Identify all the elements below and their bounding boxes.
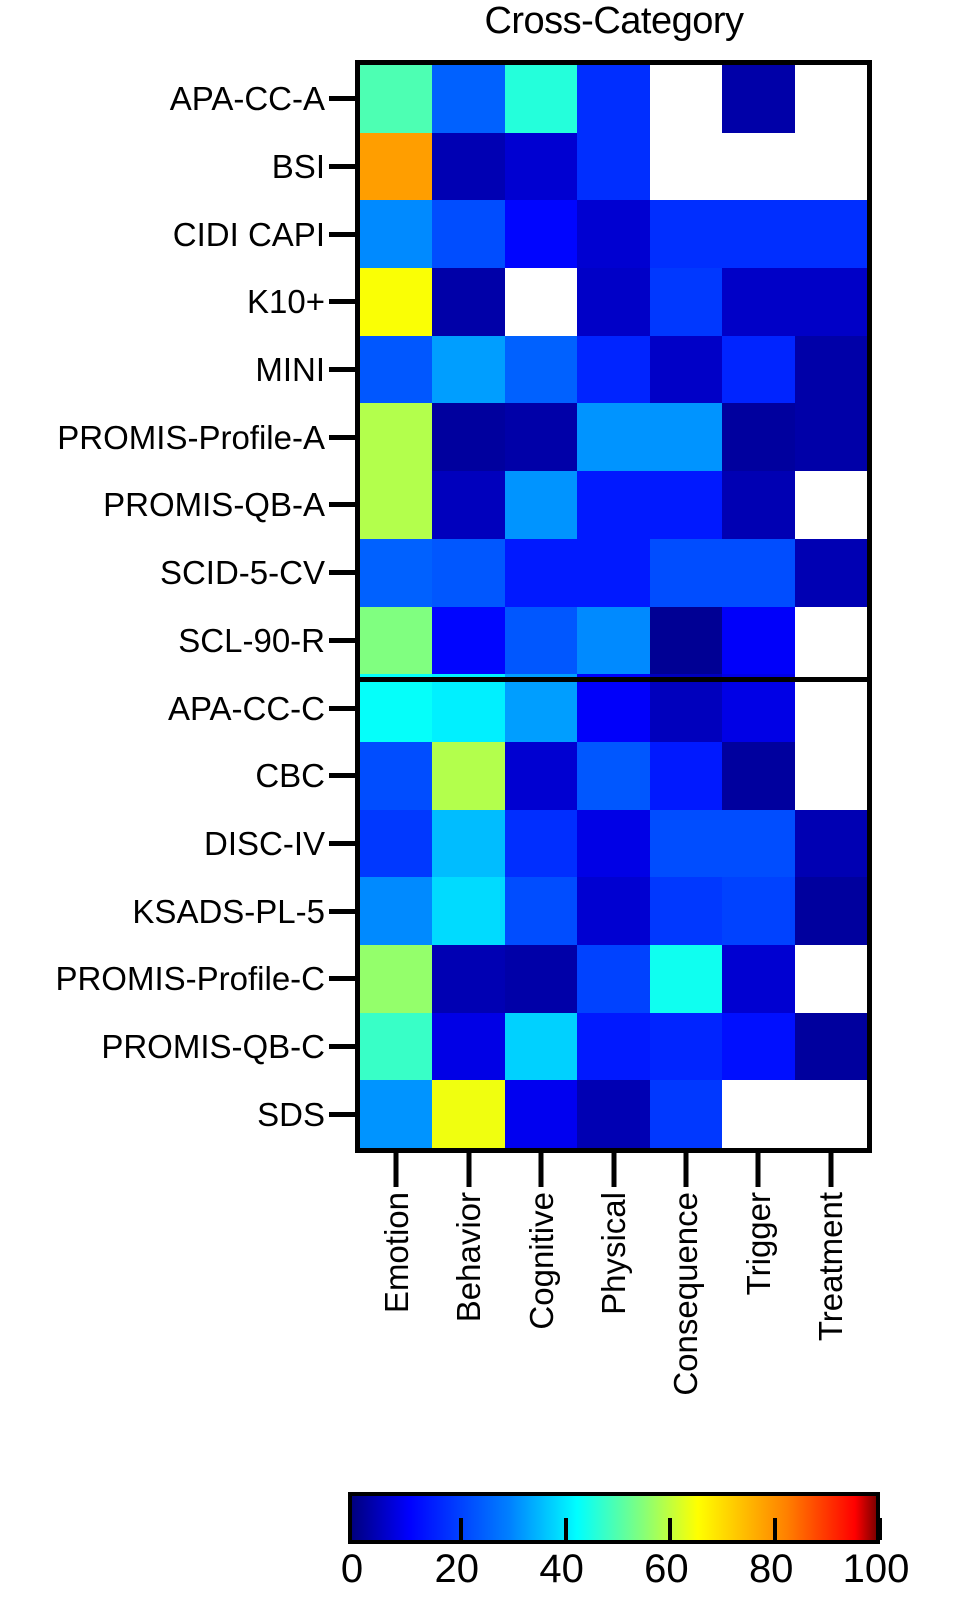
y-tick-mark [329, 706, 355, 711]
heatmap-cell [360, 133, 432, 201]
y-axis-tick-label: SDS [257, 1080, 355, 1148]
column-label-text: Trigger [742, 1192, 775, 1295]
heatmap-cell [722, 268, 794, 336]
y-axis-tick-label: CIDI CAPI [173, 200, 355, 268]
colorbar-tick-mark [773, 1518, 777, 1540]
heatmap-cell [360, 674, 432, 742]
heatmap-cell [432, 877, 504, 945]
y-tick-mark [329, 773, 355, 778]
x-axis-tick-label: Physical [577, 1192, 649, 1407]
heatmap-cell [432, 945, 504, 1013]
heatmap-cell [795, 607, 867, 675]
heatmap-cell [432, 539, 504, 607]
heatmap-cell [360, 742, 432, 810]
heatmap-cell [432, 200, 504, 268]
colorbar-gradient [352, 1496, 876, 1540]
heatmap-cell [577, 674, 649, 742]
heatmap-cell [432, 1080, 504, 1148]
colorbar-tick-text: 100 [843, 1548, 910, 1590]
heatmap-cell [577, 1080, 649, 1148]
row-label-text: APA-CC-C [168, 692, 327, 725]
heatmap-cell [795, 1080, 867, 1148]
heatmap-cell [505, 403, 577, 471]
heatmap-plot-area [355, 60, 872, 1153]
y-axis-tick-label: PROMIS-QB-C [101, 1012, 355, 1080]
heatmap-cell [505, 1080, 577, 1148]
x-axis-tick-label: Treatment [795, 1192, 867, 1407]
colorbar-tick-mark [564, 1518, 568, 1540]
heatmap-cell [360, 403, 432, 471]
heatmap-cell [505, 810, 577, 878]
column-label-text: Treatment [814, 1192, 847, 1341]
heatmap-cell [795, 133, 867, 201]
heatmap-cell [650, 539, 722, 607]
heatmap-cell [360, 1013, 432, 1081]
heatmap-cell [432, 268, 504, 336]
x-axis-tick-label: Emotion [360, 1192, 432, 1407]
heatmap-cell [505, 674, 577, 742]
column-label-text: Cognitive [525, 1192, 558, 1330]
heatmap-cell [722, 336, 794, 404]
row-label-text: CBC [255, 759, 327, 792]
heatmap-cell [650, 133, 722, 201]
y-axis-tick-label: MINI [255, 336, 355, 404]
y-axis-tick-label: APA-CC-C [168, 674, 355, 742]
heatmap-cell [722, 877, 794, 945]
y-tick-mark [329, 232, 355, 237]
heatmap-cell [650, 945, 722, 1013]
heatmap-cell [505, 945, 577, 1013]
column-label-text: Emotion [380, 1192, 413, 1313]
heatmap-cell [795, 742, 867, 810]
x-tick-mark [539, 1153, 544, 1187]
colorbar-tick-text: 20 [435, 1548, 480, 1590]
x-axis-tick-label: Cognitive [505, 1192, 577, 1407]
heatmap-cell [432, 403, 504, 471]
heatmap-grid [360, 65, 867, 1148]
x-axis-tick-label: Consequence [650, 1192, 722, 1407]
heatmap-cell [432, 471, 504, 539]
heatmap-cell [505, 877, 577, 945]
y-tick-mark [329, 164, 355, 169]
heatmap-cell [650, 810, 722, 878]
heatmap-cell [577, 471, 649, 539]
heatmap-cell [650, 1013, 722, 1081]
x-tick-mark [611, 1153, 616, 1187]
heatmap-cell [360, 336, 432, 404]
heatmap-cell [650, 877, 722, 945]
heatmap-cell [505, 471, 577, 539]
heatmap-cell [577, 336, 649, 404]
heatmap-cell [505, 268, 577, 336]
x-axis-labels: EmotionBehaviorCognitivePhysicalConseque… [355, 1192, 872, 1407]
heatmap-cell [360, 1080, 432, 1148]
y-axis-tick-label: PROMIS-QB-A [103, 471, 355, 539]
heatmap-cell [650, 403, 722, 471]
heatmap-cell [650, 1080, 722, 1148]
heatmap-cell [432, 1013, 504, 1081]
heatmap-cell [722, 133, 794, 201]
y-tick-mark [329, 299, 355, 304]
heatmap-cell [795, 336, 867, 404]
heatmap-cell [432, 607, 504, 675]
column-label-text: Consequence [669, 1192, 702, 1396]
heatmap-cell [432, 742, 504, 810]
row-label-text: PROMIS-Profile-C [55, 962, 327, 995]
y-axis-tick-label: SCL-90-R [178, 606, 355, 674]
row-label-text: DISC-IV [204, 827, 327, 860]
heatmap-cell [505, 539, 577, 607]
column-label-text: Physical [597, 1192, 630, 1315]
x-axis-tick-label: Trigger [722, 1192, 794, 1407]
colorbar-tick-mark [668, 1518, 672, 1540]
x-tick-mark [828, 1153, 833, 1187]
x-tick-mark [466, 1153, 471, 1187]
heatmap-cell [360, 471, 432, 539]
heatmap-cell [577, 607, 649, 675]
colorbar-tick-text: 60 [644, 1548, 689, 1590]
heatmap-cell [577, 742, 649, 810]
colorbar-tick-text: 0 [341, 1548, 363, 1590]
y-tick-mark [329, 96, 355, 101]
x-tick-mark [394, 1153, 399, 1187]
heatmap-cell [577, 65, 649, 133]
heatmap-cell [795, 471, 867, 539]
page-title: Cross-Category [355, 0, 873, 44]
heatmap-cell [722, 539, 794, 607]
heatmap-cell [360, 65, 432, 133]
heatmap-cell [722, 674, 794, 742]
heatmap-cell [577, 1013, 649, 1081]
heatmap-cell [795, 945, 867, 1013]
heatmap-cell [577, 403, 649, 471]
heatmap-cell [795, 810, 867, 878]
heatmap-cell [795, 877, 867, 945]
heatmap-cell [505, 607, 577, 675]
row-label-text: BSI [272, 150, 327, 183]
y-tick-mark [329, 909, 355, 914]
heatmap-cell [795, 65, 867, 133]
y-tick-mark [329, 1044, 355, 1049]
heatmap-cell [505, 65, 577, 133]
heatmap-cell [650, 742, 722, 810]
x-tick-mark [683, 1153, 688, 1187]
row-label-text: PROMIS-QB-A [103, 488, 327, 521]
heatmap-cell [577, 877, 649, 945]
heatmap-cell [650, 607, 722, 675]
y-tick-mark [329, 570, 355, 575]
colorbar [348, 1492, 880, 1544]
heatmap-cell [795, 674, 867, 742]
heatmap-cell [360, 877, 432, 945]
y-tick-mark [329, 367, 355, 372]
heatmap-cell [360, 810, 432, 878]
y-tick-mark [329, 435, 355, 440]
heatmap-cell [722, 1080, 794, 1148]
x-tick-mark [756, 1153, 761, 1187]
y-axis-tick-label: CBC [255, 742, 355, 810]
heatmap-cell [722, 403, 794, 471]
y-tick-mark [329, 502, 355, 507]
row-label-text: K10+ [247, 285, 327, 318]
heatmap-cell [650, 200, 722, 268]
heatmap-cell [795, 268, 867, 336]
row-label-text: PROMIS-QB-C [101, 1030, 327, 1063]
y-axis-labels: APA-CC-ABSICIDI CAPIK10+MINIPROMIS-Profi… [0, 60, 355, 1153]
y-tick-mark [329, 638, 355, 643]
heatmap-cell [432, 674, 504, 742]
row-label-text: CIDI CAPI [173, 218, 327, 251]
heatmap-cell [505, 200, 577, 268]
row-label-text: PROMIS-Profile-A [57, 421, 327, 454]
y-tick-mark [329, 1112, 355, 1117]
heatmap-cell [795, 1013, 867, 1081]
heatmap-cell [360, 539, 432, 607]
heatmap-cell [577, 200, 649, 268]
y-tick-mark [329, 841, 355, 846]
heatmap-cell [722, 742, 794, 810]
row-label-text: APA-CC-A [170, 82, 327, 115]
y-axis-tick-label: APA-CC-A [170, 65, 355, 133]
group-divider [360, 677, 867, 682]
heatmap-cell [360, 945, 432, 1013]
row-label-text: MINI [255, 353, 327, 386]
heatmap-cell [432, 65, 504, 133]
row-label-text: SCID-5-CV [160, 556, 327, 589]
heatmap-cell [432, 336, 504, 404]
heatmap-cell [432, 133, 504, 201]
heatmap-cell [722, 810, 794, 878]
colorbar-tick-labels: 020406080100 [348, 1548, 880, 1603]
heatmap-cell [795, 539, 867, 607]
heatmap-cell [650, 268, 722, 336]
colorbar-tick-text: 40 [539, 1548, 584, 1590]
heatmap-cell [795, 200, 867, 268]
heatmap-cell [722, 1013, 794, 1081]
heatmap-cell [722, 200, 794, 268]
heatmap-cell [577, 268, 649, 336]
y-axis-tick-label: SCID-5-CV [160, 539, 355, 607]
row-label-text: SDS [257, 1098, 327, 1131]
heatmap-cell [577, 945, 649, 1013]
heatmap-cell [722, 65, 794, 133]
y-axis-tick-label: PROMIS-Profile-C [55, 945, 355, 1013]
column-label-text: Behavior [452, 1192, 485, 1322]
heatmap-cell [650, 674, 722, 742]
y-axis-tick-label: KSADS-PL-5 [132, 877, 355, 945]
heatmap-cell [577, 539, 649, 607]
heatmap-cell [577, 133, 649, 201]
y-axis-tick-label: BSI [272, 133, 355, 201]
heatmap-cell [360, 268, 432, 336]
heatmap-cell [722, 945, 794, 1013]
colorbar-tick-mark [878, 1518, 882, 1540]
y-axis-tick-label: PROMIS-Profile-A [57, 403, 355, 471]
heatmap-cell [505, 742, 577, 810]
heatmap-cell [795, 403, 867, 471]
y-tick-mark [329, 976, 355, 981]
heatmap-cell [432, 810, 504, 878]
heatmap-cell [650, 471, 722, 539]
heatmap-cell [505, 133, 577, 201]
heatmap-cell [505, 1013, 577, 1081]
x-axis-tick-label: Behavior [432, 1192, 504, 1407]
heatmap-cell [722, 607, 794, 675]
y-axis-tick-label: DISC-IV [204, 809, 355, 877]
heatmap-cell [360, 607, 432, 675]
row-label-text: KSADS-PL-5 [132, 895, 327, 928]
colorbar-tick-text: 80 [749, 1548, 794, 1590]
heatmap-cell [577, 810, 649, 878]
y-axis-tick-label: K10+ [247, 268, 355, 336]
colorbar-tick-mark [459, 1518, 463, 1540]
row-label-text: SCL-90-R [178, 624, 327, 657]
heatmap-cell [722, 471, 794, 539]
heatmap-cell [360, 200, 432, 268]
heatmap-cell [505, 336, 577, 404]
heatmap-cell [650, 336, 722, 404]
heatmap-cell [650, 65, 722, 133]
cross-category-heatmap-figure: Cross-Category APA-CC-ABSICIDI CAPIK10+M… [0, 0, 954, 1621]
x-axis-ticks [355, 1153, 872, 1187]
